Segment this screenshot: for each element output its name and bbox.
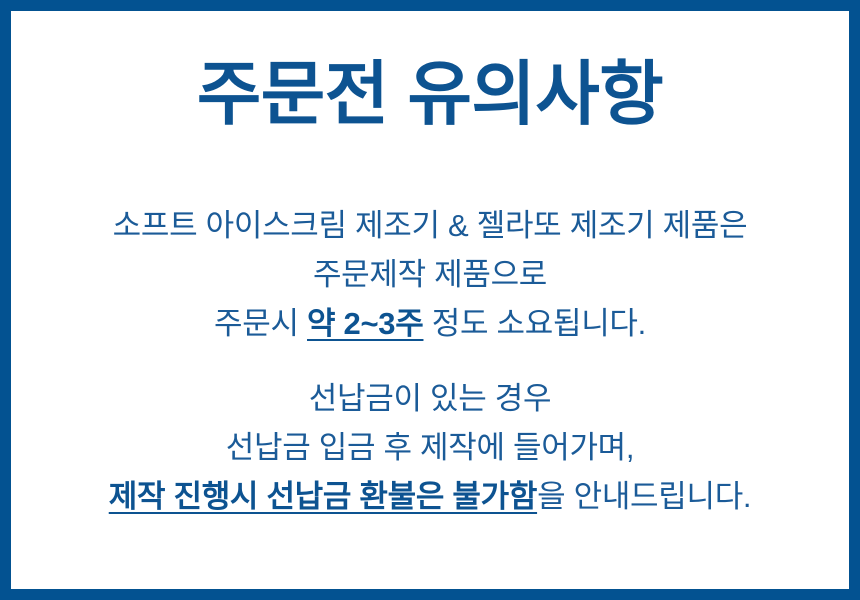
page-title: 주문전 유의사항 xyxy=(29,11,831,129)
body-text: 선납금이 있는 경우 xyxy=(309,381,551,416)
body-text: 주문시 xyxy=(214,306,307,341)
body-text: 선납금 입금 후 제작에 들어가며, xyxy=(226,430,634,465)
paragraph-deposit-policy: 선납금이 있는 경우선납금 입금 후 제작에 들어가며,제작 진행시 선납금 환… xyxy=(29,374,831,521)
notice-line: 소프트 아이스크림 제조기 & 젤라또 제조기 제품은 xyxy=(29,201,831,250)
notice-line: 선납금이 있는 경우 xyxy=(29,374,831,423)
notice-line: 선납금 입금 후 제작에 들어가며, xyxy=(29,423,831,472)
notice-line: 주문시 약 2~3주 정도 소요됩니다. xyxy=(29,299,831,348)
notice-line: 제작 진행시 선납금 환불은 불가함을 안내드립니다. xyxy=(29,472,831,521)
body-text: 정도 소요됩니다. xyxy=(423,306,645,341)
emphasis-text: 제작 진행시 선납금 환불은 불가함 xyxy=(109,479,537,514)
notice-line: 주문제작 제품으로 xyxy=(29,250,831,299)
body-text: 주문제작 제품으로 xyxy=(313,257,547,292)
body-text: 을 안내드립니다. xyxy=(537,479,751,514)
emphasis-text: 약 2~3주 xyxy=(307,306,423,341)
notice-content: 주문전 유의사항 소프트 아이스크림 제조기 & 젤라또 제조기 제품은주문제작… xyxy=(11,11,849,589)
paragraph-lead-time: 소프트 아이스크림 제조기 & 젤라또 제조기 제품은주문제작 제품으로주문시 … xyxy=(29,201,831,348)
notice-card: 주문전 유의사항 소프트 아이스크림 제조기 & 젤라또 제조기 제품은주문제작… xyxy=(0,0,860,600)
body-text: 소프트 아이스크림 제조기 & 젤라또 제조기 제품은 xyxy=(113,208,748,243)
